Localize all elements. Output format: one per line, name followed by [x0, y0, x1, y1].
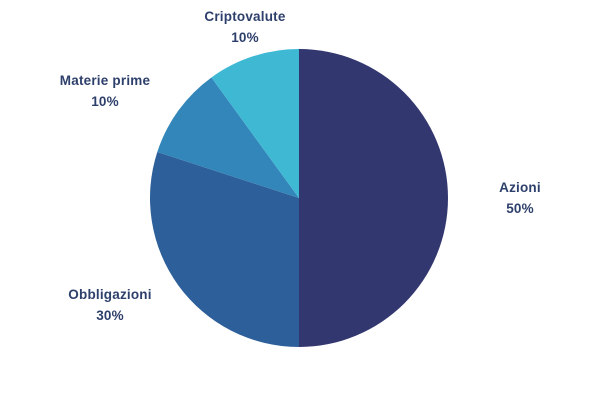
pie-chart-figure: Azioni 50% Obbligazioni 30% Materie prim…	[0, 0, 600, 400]
pie-label-criptovalute-value: 10%	[145, 27, 345, 48]
pie-label-materie-prime-value: 10%	[5, 91, 205, 112]
pie-label-materie-prime: Materie prime 10%	[5, 70, 205, 112]
pie-label-azioni-value: 50%	[455, 198, 585, 219]
pie-label-azioni: Azioni 50%	[455, 177, 585, 219]
pie-label-criptovalute-name: Criptovalute	[145, 6, 345, 27]
pie-label-criptovalute: Criptovalute 10%	[145, 6, 345, 48]
pie-label-obbligazioni-value: 30%	[10, 305, 210, 326]
pie-label-obbligazioni: Obbligazioni 30%	[10, 284, 210, 326]
pie-label-obbligazioni-name: Obbligazioni	[10, 284, 210, 305]
pie-label-materie-prime-name: Materie prime	[5, 70, 205, 91]
pie-slice-azioni[interactable]	[299, 49, 448, 347]
pie-label-azioni-name: Azioni	[455, 177, 585, 198]
